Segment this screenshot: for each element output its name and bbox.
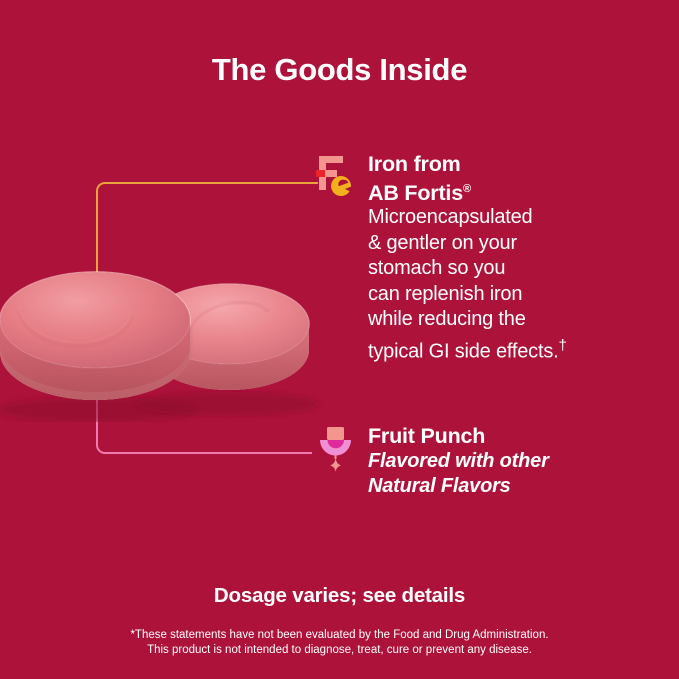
feature-flavor-body: Flavored with other Natural Flavors: [368, 449, 549, 500]
feature-flavor-heading: Fruit Punch: [368, 424, 549, 449]
feature-iron: Iron from AB Fortis® Microencapsulated &…: [316, 152, 567, 365]
dagger-symbol: †: [558, 337, 566, 354]
disclaimer-line-1: *These statements have not been evaluate…: [0, 628, 679, 643]
legal-disclaimer: *These statements have not been evaluate…: [0, 628, 679, 658]
fruit-punch-icon: [316, 424, 360, 472]
feature-flavor: Fruit Punch Flavored with other Natural …: [316, 424, 549, 500]
disclaimer-line-2: This product is not intended to diagnose…: [0, 643, 679, 658]
registered-trademark-symbol: ®: [463, 183, 471, 195]
feature-iron-body: Microencapsulated & gentler on your stom…: [368, 205, 567, 365]
product-infographic: The Goods Inside: [0, 0, 679, 679]
tablets-image: [0, 232, 322, 422]
page-title: The Goods Inside: [0, 52, 679, 88]
feature-iron-text: Iron from AB Fortis® Microencapsulated &…: [368, 152, 567, 365]
feature-flavor-text: Fruit Punch Flavored with other Natural …: [368, 424, 549, 500]
dosage-note: Dosage varies; see details: [0, 584, 679, 608]
fe-iron-icon: [316, 152, 360, 196]
feature-iron-heading: Iron from AB Fortis®: [368, 152, 567, 205]
